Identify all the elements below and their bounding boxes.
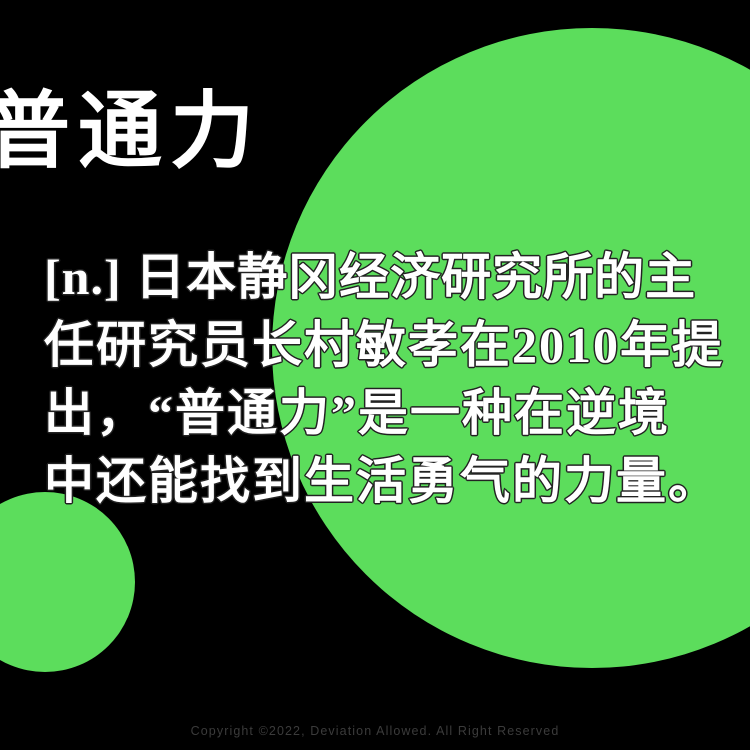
definition-line-2: 任研究员长村敏孝在2010年提 xyxy=(44,311,750,379)
poster-canvas: 普通力 [n.] 日本静冈经济研究所的主 任研究员长村敏孝在2010年提 出，“… xyxy=(0,0,750,750)
definition-line-1: [n.] 日本静冈经济研究所的主 xyxy=(44,243,750,311)
definition-line-4: 中还能找到生活勇气的力量。 xyxy=(44,447,750,515)
definition-line-3: 出，“普通力”是一种在逆境 xyxy=(44,379,750,447)
copyright-footer: Copyright ©2022, Deviation Allowed. All … xyxy=(0,724,750,738)
page-title: 普通力 xyxy=(0,88,406,177)
small-green-circle-decoration xyxy=(0,492,135,672)
definition-block: [n.] 日本静冈经济研究所的主 任研究员长村敏孝在2010年提 出，“普通力”… xyxy=(44,243,750,515)
